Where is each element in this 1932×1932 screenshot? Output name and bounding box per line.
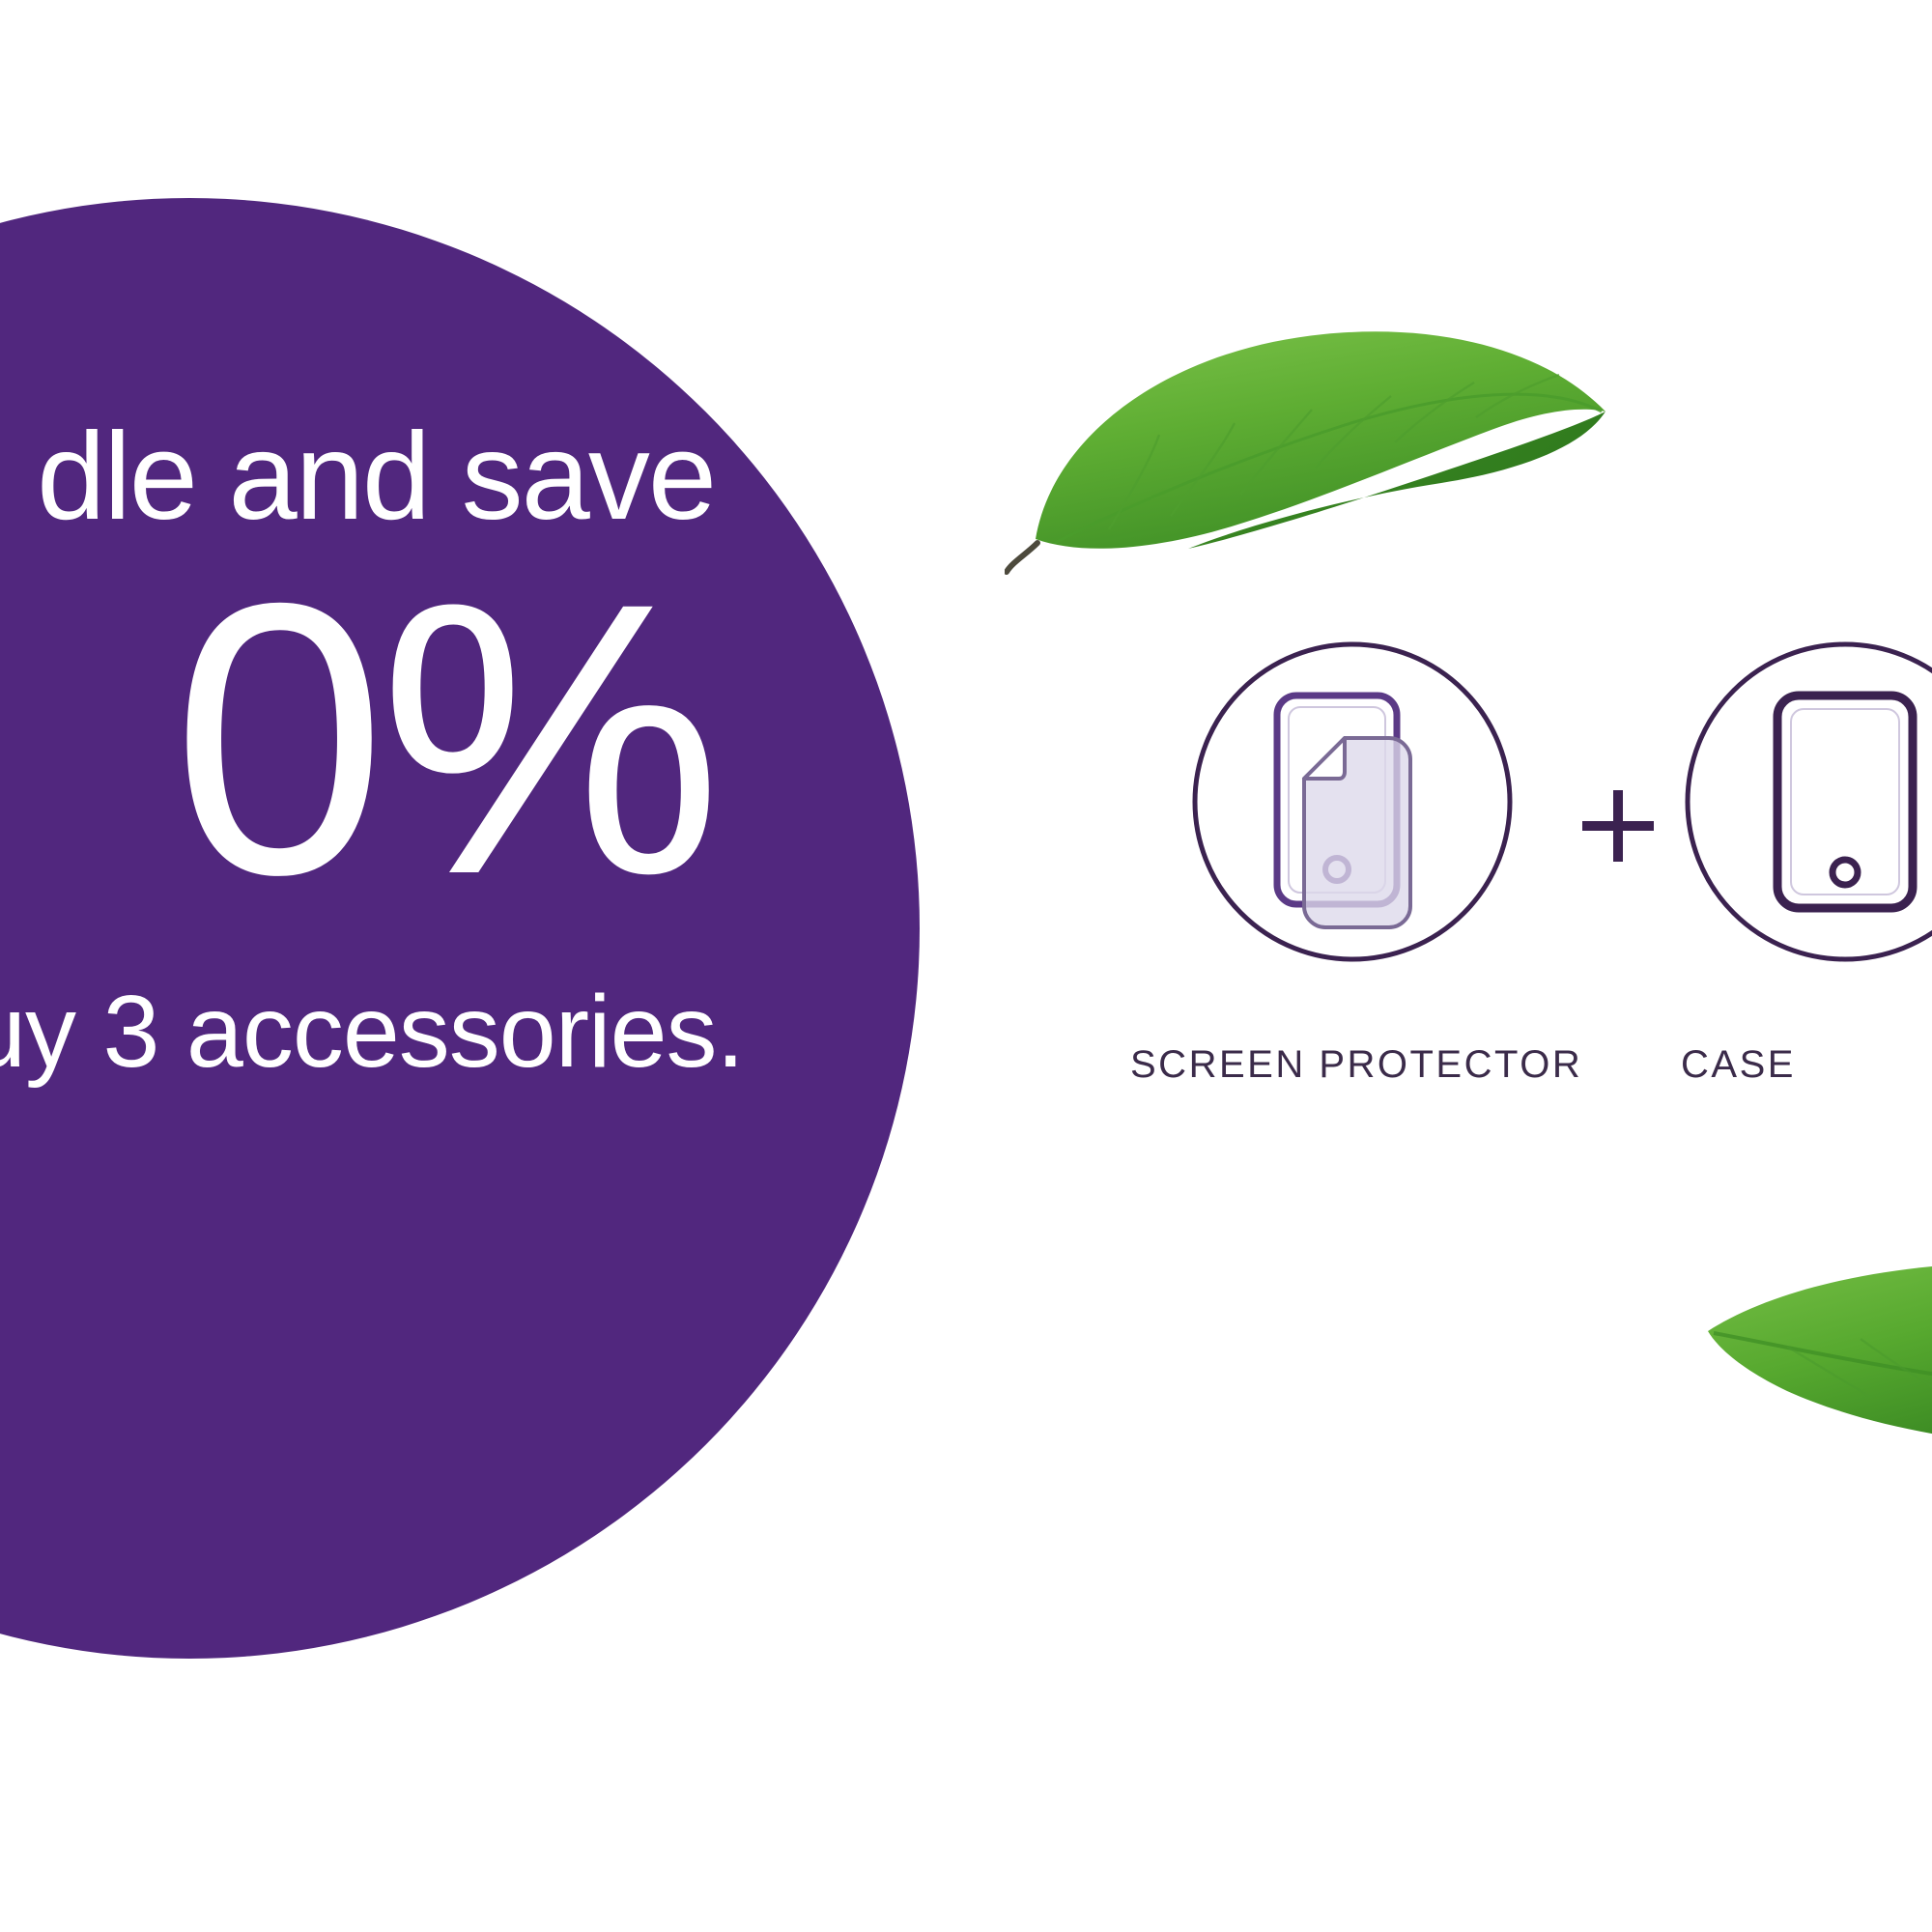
product-case[interactable]: CASE [1681, 638, 1932, 1159]
leaf-top-icon [1005, 290, 1642, 609]
phone-case-icon [1681, 638, 1932, 966]
promo-subline: u buy 3 accessories. [0, 980, 744, 1083]
promo-copy: dle and save 0% u buy 3 accessories. [0, 198, 920, 1659]
promo-headline: dle and save [0, 415, 715, 539]
phone-with-screen-protector-film-icon [1188, 638, 1517, 966]
promo-banner: dle and save 0% u buy 3 accessories. [0, 0, 1932, 1932]
plus-icon [1575, 782, 1662, 869]
leaf-bottom-icon [1681, 1246, 1932, 1536]
product-screen-protector[interactable]: SCREEN PROTECTOR [1188, 638, 1517, 1159]
promo-discount-percent: 0% [0, 526, 715, 952]
product-label-screen-protector: SCREEN PROTECTOR [1130, 1043, 1575, 1087]
product-label-case: CASE [1681, 1043, 1932, 1087]
product-bundle-row: SCREEN PROTECTOR CASE [1188, 638, 1932, 1159]
